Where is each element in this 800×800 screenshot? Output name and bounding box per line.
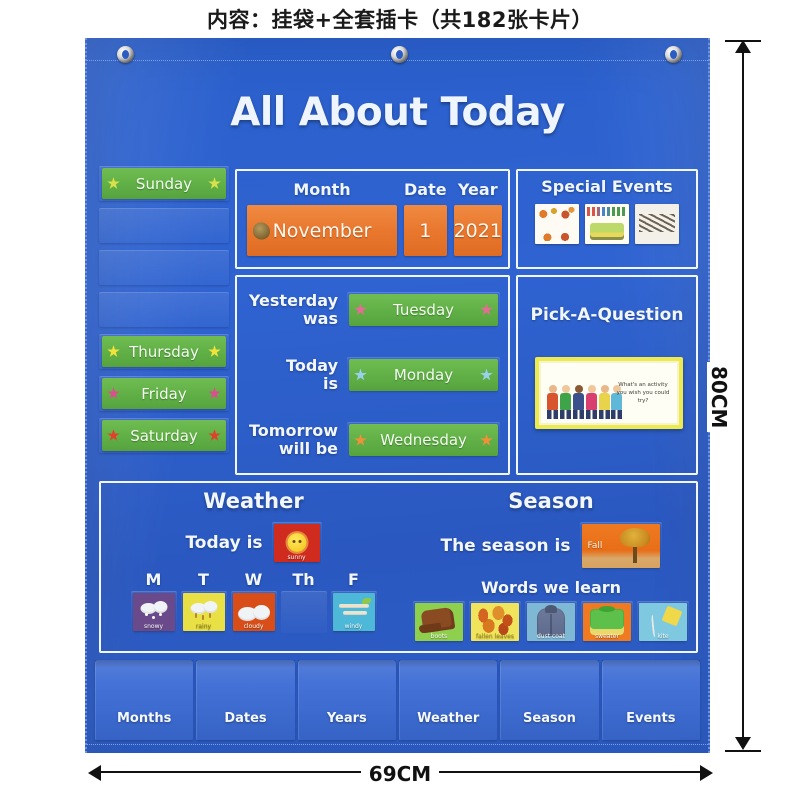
pocket-chart: All About Today Sunday Thursday Friday: [85, 38, 710, 753]
weather-today-row: Today is sunny: [101, 522, 406, 564]
season-value: Fall: [588, 541, 603, 551]
tomorrow-label-line2: will be: [245, 440, 338, 458]
storage-pocket-dates[interactable]: Dates: [196, 660, 294, 740]
day-slot-thursday[interactable]: Thursday: [99, 334, 229, 369]
class-card[interactable]: [635, 204, 679, 244]
weekday-letter: M: [131, 570, 177, 589]
day-slot-empty-1[interactable]: [99, 208, 229, 243]
word-slot-boots[interactable]: boots: [413, 601, 465, 643]
kite-icon: [662, 606, 683, 627]
words-we-learn-row: boots fallen leaves dust coat: [406, 601, 696, 643]
special-events-cards: [518, 204, 696, 244]
pinecone-icon: [253, 222, 270, 239]
yesterday-label-line1: Yesterday: [245, 292, 338, 310]
tomorrow-card[interactable]: Wednesday: [349, 424, 498, 456]
weather-card-windy[interactable]: windy: [333, 593, 375, 631]
tomorrow-row: Tomorrow will be Wednesday: [237, 408, 508, 473]
cloud-icon: [238, 604, 270, 621]
weather-slot-monday[interactable]: snowy: [131, 591, 177, 633]
storage-pocket-months[interactable]: Months: [95, 660, 193, 740]
weather-card-cloudy[interactable]: cloudy: [233, 593, 275, 631]
weather-slot-thursday-empty[interactable]: [281, 591, 327, 633]
weather-slot-friday[interactable]: windy: [331, 591, 377, 633]
weather-card-rainy[interactable]: rainy: [183, 593, 225, 631]
word-value: fallen leaves: [476, 633, 514, 640]
stitch-line-bottom: [87, 744, 708, 745]
star-icon: [354, 303, 367, 316]
weather-title: Weather: [101, 489, 406, 513]
star-icon: [208, 345, 221, 358]
weather-week-row: M snowy T: [101, 570, 406, 633]
field-trip-card[interactable]: [585, 204, 629, 244]
weather-today-pocket[interactable]: sunny: [272, 522, 322, 564]
tomorrow-pocket[interactable]: Wednesday: [347, 422, 500, 458]
sun-icon: [287, 533, 306, 552]
word-card-dust-coat[interactable]: dust coat: [527, 603, 575, 641]
coat-icon: [537, 608, 565, 636]
grommet-center: [391, 46, 408, 63]
dim-arrow-down: [735, 737, 751, 750]
season-value-row: The season is Fall: [406, 522, 696, 570]
pick-a-question-title: Pick-A-Question: [518, 305, 696, 325]
day-slot-sunday[interactable]: Sunday: [99, 166, 229, 201]
day-slot-friday[interactable]: Friday: [99, 376, 229, 411]
weather-day-thursday: Th: [281, 570, 327, 633]
star-icon: [354, 368, 367, 381]
grommet-right: [665, 46, 682, 63]
day-label: Friday: [141, 385, 186, 403]
yesterday-value: Tuesday: [393, 301, 454, 319]
season-title: Season: [406, 489, 696, 513]
weather-value: rainy: [196, 623, 211, 630]
weather-value: snowy: [144, 623, 163, 630]
product-caption: 内容：挂袋+全套插卡（共182张卡片）: [0, 4, 800, 34]
day-card-saturday[interactable]: Saturday: [102, 420, 226, 451]
season-card-fall[interactable]: Fall: [582, 524, 660, 568]
word-slot-leaves[interactable]: fallen leaves: [469, 601, 521, 643]
yesterday-today-tomorrow-panel: Yesterday was Tuesday Today is Monday: [235, 275, 510, 475]
today-label: Today is: [245, 357, 347, 393]
star-icon: [107, 345, 120, 358]
thanksgiving-card[interactable]: [535, 204, 579, 244]
weather-day-tuesday: T rainy: [181, 570, 227, 633]
date-group: Date 1: [404, 180, 447, 256]
season-section: Season The season is Fall Words we learn: [406, 483, 696, 651]
year-group: Year 2021: [454, 180, 502, 256]
leaf-icon: [362, 598, 371, 604]
month-value: November: [273, 220, 372, 242]
star-icon: [208, 429, 221, 442]
today-label-line2: is: [245, 375, 338, 393]
storage-pocket-season[interactable]: Season: [500, 660, 598, 740]
month-group: Month November: [247, 180, 397, 256]
weather-today-card[interactable]: sunny: [274, 524, 320, 562]
date-card[interactable]: 1: [404, 205, 447, 256]
word-slot-dust-coat[interactable]: dust coat: [525, 601, 577, 643]
day-slot-empty-2[interactable]: [99, 250, 229, 285]
weekday-letter: W: [231, 570, 277, 589]
season-pocket[interactable]: Fall: [580, 522, 662, 570]
day-card-thursday[interactable]: Thursday: [102, 336, 226, 367]
star-icon: [208, 177, 221, 190]
today-card[interactable]: Monday: [349, 359, 498, 391]
weather-day-friday: F windy: [331, 570, 377, 633]
storage-pocket-years[interactable]: Years: [298, 660, 396, 740]
storage-pocket-weather[interactable]: Weather: [399, 660, 497, 740]
day-slot-empty-3[interactable]: [99, 292, 229, 327]
dimension-width-label: 69CM: [0, 762, 800, 786]
yesterday-label-line2: was: [245, 310, 338, 328]
word-card-fallen-leaves[interactable]: fallen leaves: [471, 603, 519, 641]
year-label: Year: [458, 180, 498, 199]
today-row: Today is Monday: [237, 342, 508, 407]
kite-tail-icon: [651, 615, 656, 637]
word-value: sweater: [595, 633, 619, 640]
storage-pocket-events[interactable]: Events: [602, 660, 700, 740]
today-label-line1: Today: [245, 357, 338, 375]
weather-day-monday: M snowy: [131, 570, 177, 633]
yesterday-row: Yesterday was Tuesday: [237, 277, 508, 342]
month-card[interactable]: November: [247, 205, 397, 256]
today-pocket[interactable]: Monday: [347, 357, 500, 393]
words-we-learn-title: Words we learn: [406, 578, 696, 597]
dimension-width-value: 69CM: [361, 762, 439, 786]
weekday-letter: F: [331, 570, 377, 589]
weather-value: cloudy: [244, 623, 264, 630]
chart-title: All About Today: [87, 90, 708, 135]
word-card-sweater[interactable]: sweater: [583, 603, 631, 641]
yesterday-pocket[interactable]: Tuesday: [347, 292, 500, 328]
day-label: Saturday: [130, 427, 198, 445]
wind-icon: [339, 602, 371, 620]
star-icon: [107, 429, 120, 442]
special-events-title: Special Events: [518, 177, 696, 196]
word-slot-kite[interactable]: kite: [637, 601, 689, 643]
sweater-icon: [590, 609, 624, 635]
special-events-panel: Special Events: [516, 169, 698, 269]
children-illustration: [545, 367, 623, 419]
days-of-week-column: Sunday Thursday Friday Saturday: [99, 166, 229, 460]
word-value: kite: [657, 633, 668, 640]
storage-pockets-row: Months Dates Years Weather Season Events: [87, 660, 708, 740]
day-slot-saturday[interactable]: Saturday: [99, 418, 229, 453]
yesterday-label: Yesterday was: [245, 292, 347, 328]
yesterday-card[interactable]: Tuesday: [349, 294, 498, 326]
boot-icon: [421, 607, 456, 633]
season-label: The season is: [440, 536, 570, 556]
word-value: boots: [431, 633, 448, 640]
dim-arrow-up: [735, 40, 751, 53]
tomorrow-value: Wednesday: [380, 431, 467, 449]
weather-slot-wednesday[interactable]: cloudy: [231, 591, 277, 633]
word-slot-sweater[interactable]: sweater: [581, 601, 633, 643]
tomorrow-label-line1: Tomorrow: [245, 422, 338, 440]
day-card-sunday[interactable]: Sunday: [102, 168, 226, 199]
weather-today-label: Today is: [185, 533, 262, 553]
word-card-kite[interactable]: kite: [639, 603, 687, 641]
rain-cloud-icon: [190, 600, 217, 614]
dim-tick-bottom: [725, 750, 761, 752]
weather-slot-tuesday[interactable]: rainy: [181, 591, 227, 633]
month-label: Month: [293, 180, 350, 199]
today-value: Monday: [394, 366, 453, 384]
star-icon: [107, 387, 120, 400]
day-label: Thursday: [129, 343, 199, 361]
word-value: dust coat: [537, 633, 565, 640]
star-icon: [208, 387, 221, 400]
star-icon: [480, 303, 493, 316]
date-label: Date: [404, 180, 447, 199]
grommet-left: [117, 46, 134, 63]
weather-today-value: sunny: [288, 554, 306, 561]
weather-value: windy: [345, 623, 363, 630]
weekday-letter: Th: [281, 570, 327, 589]
pick-a-question-text: What's an activity you wish you could tr…: [614, 381, 672, 405]
year-card[interactable]: 2021: [454, 205, 502, 256]
pick-a-question-panel: Pick-A-Question: [516, 275, 698, 475]
day-card-friday[interactable]: Friday: [102, 378, 226, 409]
weekday-letter: T: [181, 570, 227, 589]
day-label: Sunday: [136, 175, 192, 193]
weather-day-wednesday: W cloudy: [231, 570, 277, 633]
word-card-boots[interactable]: boots: [415, 603, 463, 641]
pick-a-question-card-inner: What's an activity you wish you could tr…: [541, 363, 677, 423]
snow-cloud-icon: [140, 600, 167, 614]
dimension-height-label: 80CM: [707, 362, 731, 432]
pick-a-question-card[interactable]: What's an activity you wish you could tr…: [535, 357, 683, 429]
weather-card-snowy[interactable]: snowy: [133, 593, 175, 631]
date-panel: Month November Date 1 Year 2021: [235, 169, 510, 269]
tree-icon: [620, 528, 650, 564]
star-icon: [480, 434, 493, 447]
star-icon: [107, 177, 120, 190]
dim-line-vertical: [742, 48, 744, 743]
star-icon: [480, 368, 493, 381]
weather-season-panel: Weather Today is sunny M: [99, 481, 698, 653]
tomorrow-label: Tomorrow will be: [245, 422, 347, 458]
weather-section: Weather Today is sunny M: [101, 483, 406, 651]
star-icon: [354, 434, 367, 447]
